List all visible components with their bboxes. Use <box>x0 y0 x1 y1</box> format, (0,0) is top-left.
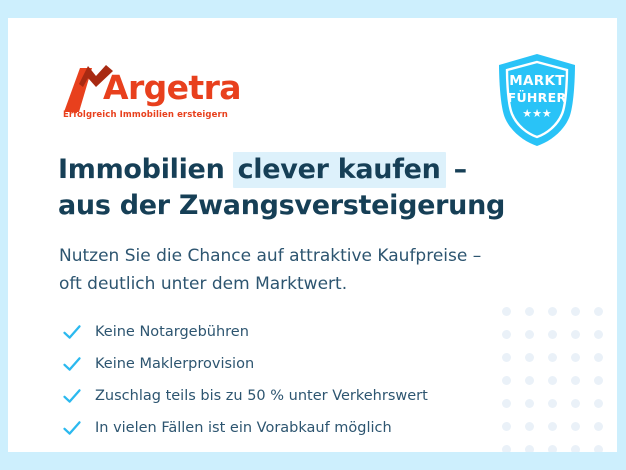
list-item: Keine Notargebühren <box>61 316 428 348</box>
dot <box>502 422 511 431</box>
check-icon <box>61 321 83 343</box>
check-icon <box>61 385 83 407</box>
list-item: Keine Maklerprovision <box>61 348 428 380</box>
dot <box>502 307 511 316</box>
headline-line-1: Immobilien clever kaufen – <box>58 152 505 188</box>
dot <box>594 376 603 385</box>
dot <box>525 330 534 339</box>
list-item: Zuschlag teils bis zu 50 % unter Verkehr… <box>61 380 428 412</box>
dot <box>502 445 511 452</box>
brand-logo: Argetra Erfolgreich Immobilien ersteiger… <box>62 60 252 120</box>
list-item: In vielen Fällen ist ein Vorabkauf mögli… <box>61 412 428 444</box>
list-item-label: In vielen Fällen ist ein Vorabkauf mögli… <box>95 418 392 438</box>
dot <box>502 330 511 339</box>
dot <box>571 399 580 408</box>
subheading-line-2: oft deutlich unter dem Marktwert. <box>59 270 481 298</box>
dot <box>548 353 557 362</box>
dot <box>502 399 511 408</box>
subheading: Nutzen Sie die Chance auf attraktive Kau… <box>59 242 481 298</box>
dot <box>502 353 511 362</box>
benefits-list: Keine Notargebühren Keine Maklerprovisio… <box>61 316 428 444</box>
dot <box>594 399 603 408</box>
dot <box>502 376 511 385</box>
logo-wordmark: Argetra <box>103 68 241 108</box>
dot <box>548 399 557 408</box>
dot <box>525 307 534 316</box>
dot <box>571 422 580 431</box>
dot <box>571 376 580 385</box>
market-leader-badge: MARKT FÜHRER ★★★ <box>493 52 581 148</box>
dot <box>571 353 580 362</box>
dot <box>594 307 603 316</box>
page-title: Immobilien clever kaufen – aus der Zwang… <box>58 152 505 224</box>
dot <box>594 330 603 339</box>
promo-banner: Argetra Erfolgreich Immobilien ersteiger… <box>0 0 626 470</box>
dot <box>548 330 557 339</box>
dot <box>548 307 557 316</box>
logo-row: Argetra <box>62 60 252 112</box>
dot <box>594 353 603 362</box>
dot <box>525 376 534 385</box>
banner-card: Argetra Erfolgreich Immobilien ersteiger… <box>8 18 617 452</box>
dot <box>548 422 557 431</box>
dot <box>594 422 603 431</box>
dot <box>571 330 580 339</box>
dot <box>525 399 534 408</box>
dot <box>571 445 580 452</box>
list-item-label: Zuschlag teils bis zu 50 % unter Verkehr… <box>95 386 428 406</box>
dot <box>548 376 557 385</box>
check-icon <box>61 417 83 439</box>
dot-grid-decoration <box>495 300 610 452</box>
headline-line-2: aus der Zwangsversteigerung <box>58 188 505 224</box>
dot <box>594 445 603 452</box>
headline-prefix: Immobilien <box>58 154 234 185</box>
dot <box>571 307 580 316</box>
check-icon <box>61 353 83 375</box>
subheading-line-1: Nutzen Sie die Chance auf attraktive Kau… <box>59 242 481 270</box>
dot <box>525 353 534 362</box>
list-item-label: Keine Maklerprovision <box>95 354 254 374</box>
dot <box>525 422 534 431</box>
dot <box>525 445 534 452</box>
headline-suffix: – <box>445 154 467 185</box>
shield-badge-icon <box>493 52 581 148</box>
list-item-label: Keine Notargebühren <box>95 322 249 342</box>
headline-highlight: clever kaufen <box>233 152 446 188</box>
dot <box>548 445 557 452</box>
